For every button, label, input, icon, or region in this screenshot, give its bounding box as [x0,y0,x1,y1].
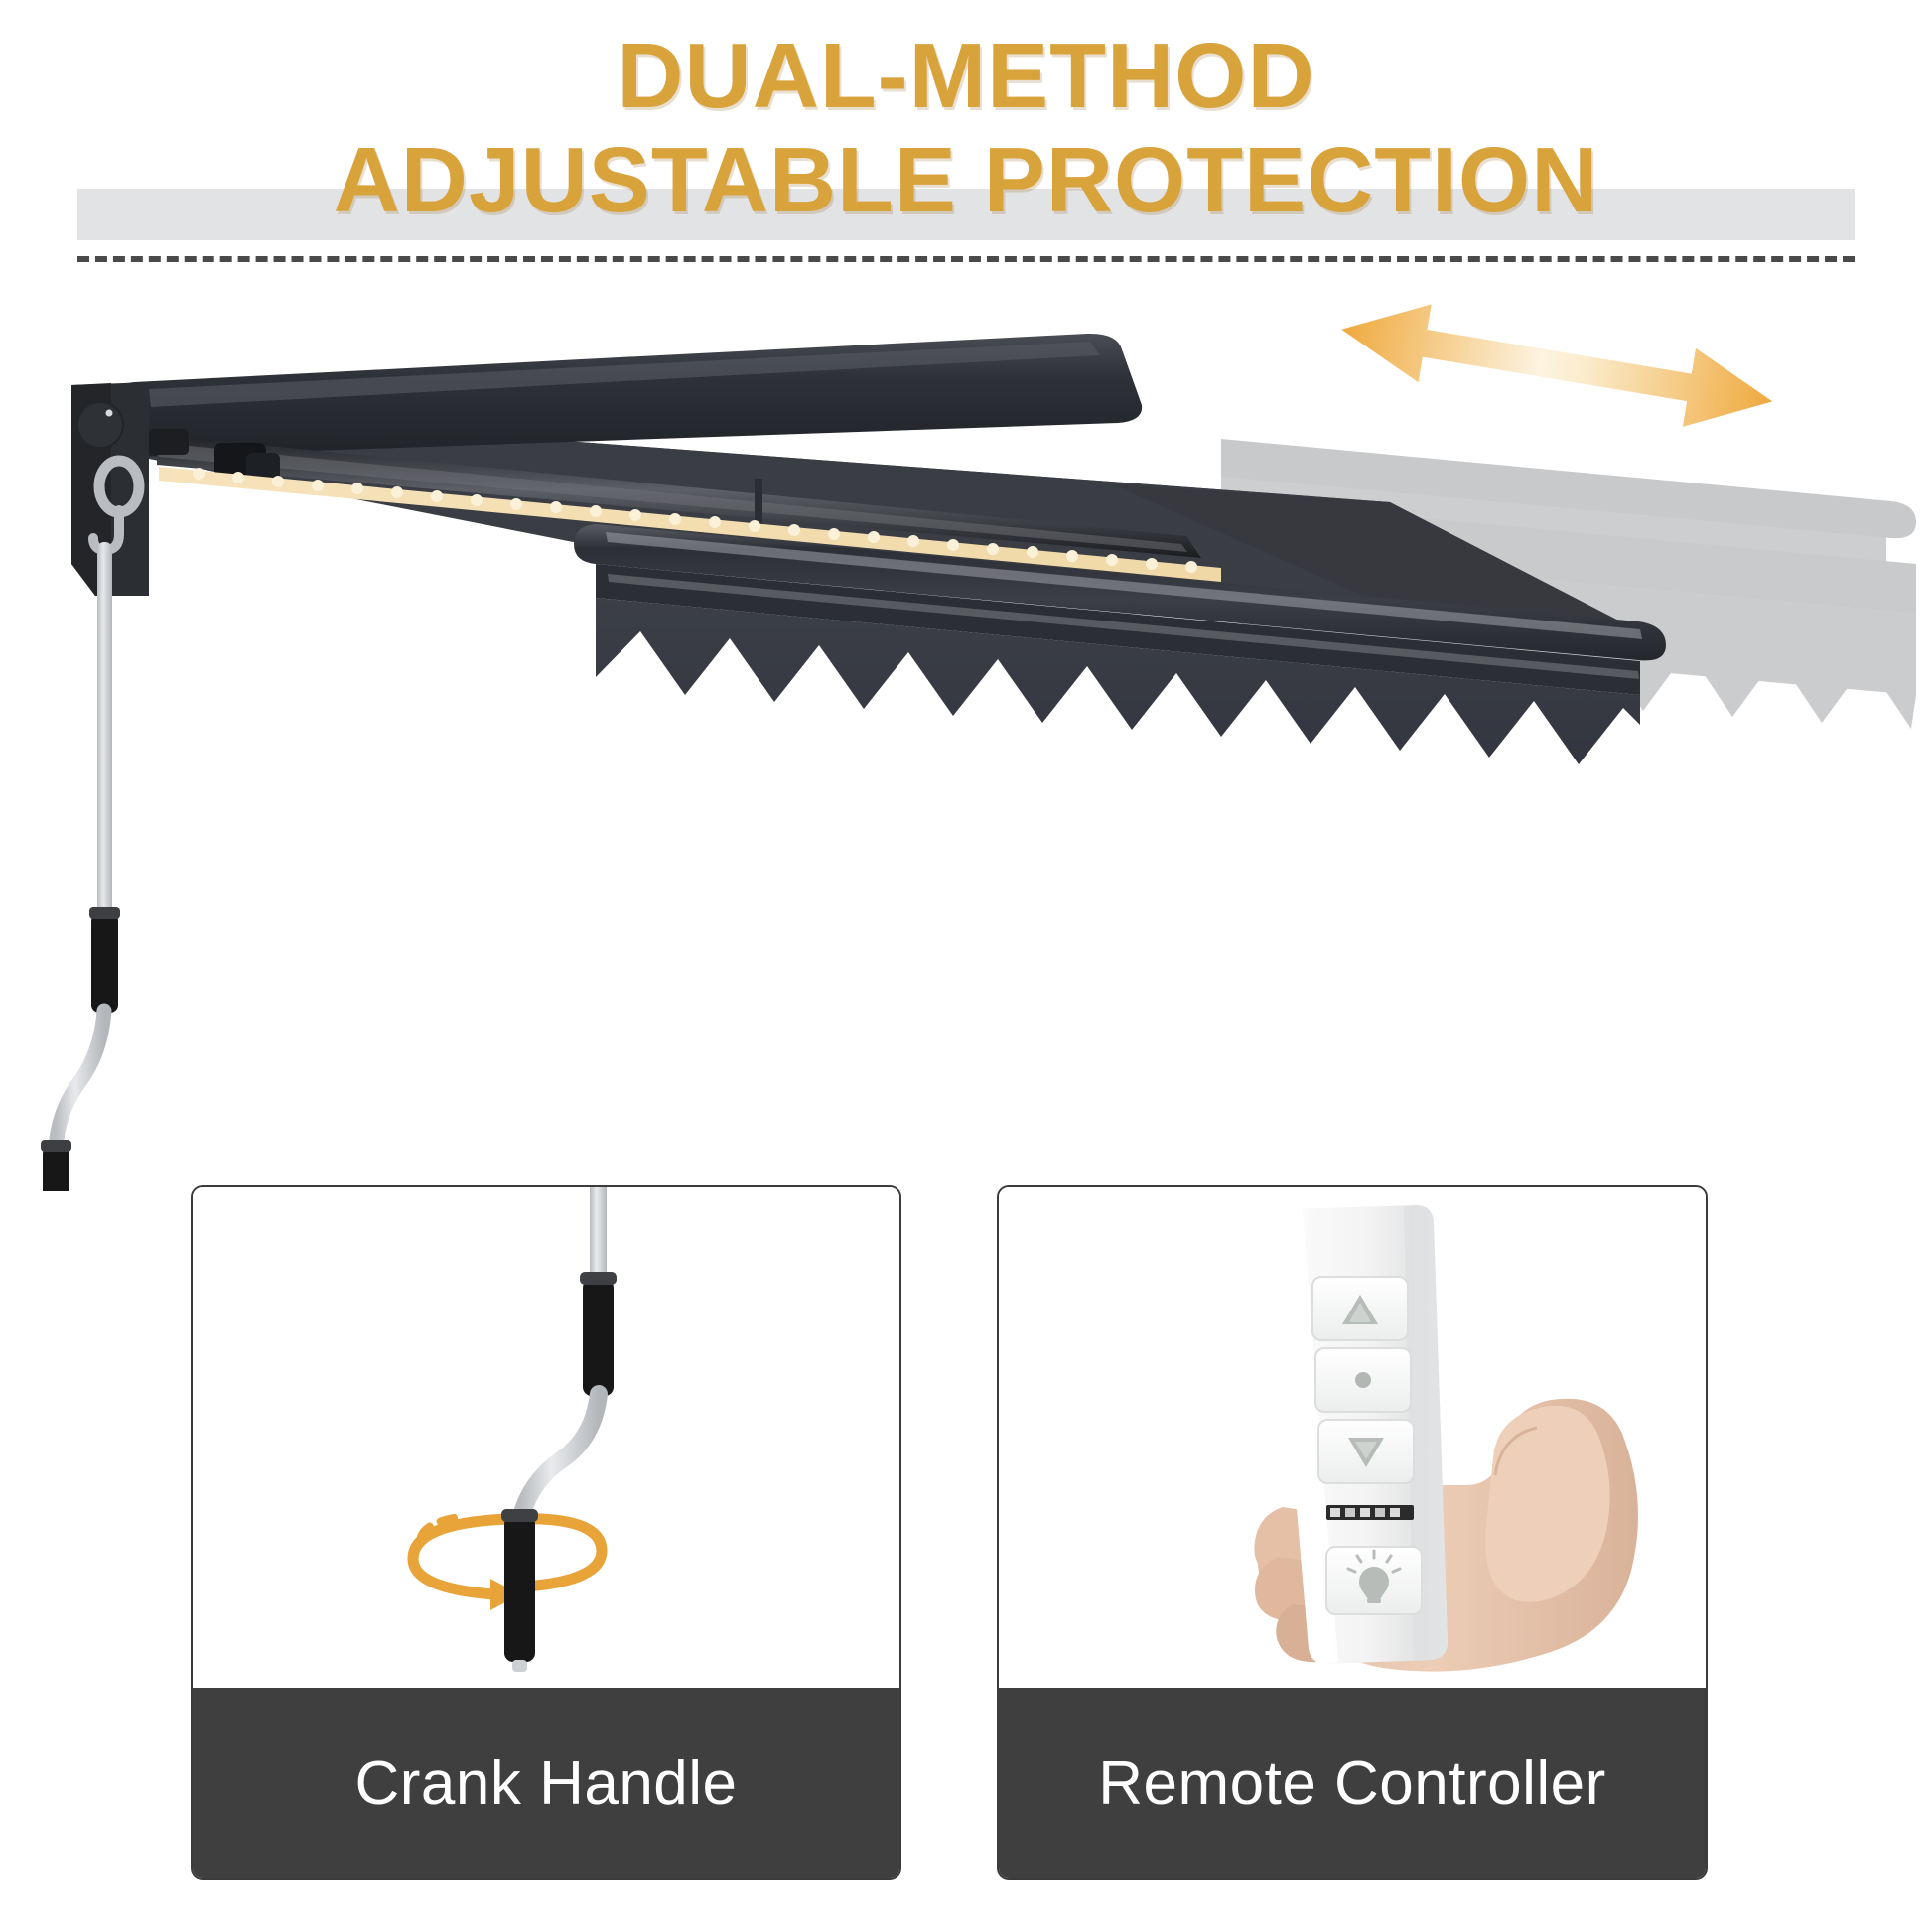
remote-controller-label: Remote Controller [1098,1748,1606,1819]
crank-handle-footer: Crank Handle [193,1688,899,1878]
remote-buttons [1312,1277,1422,1614]
remote-controller-footer: Remote Controller [999,1688,1706,1878]
light-button [1326,1547,1422,1614]
title-divider [77,256,1855,262]
down-button [1318,1420,1414,1483]
crank-handle-icon [193,1187,899,1690]
title-band [77,189,1855,240]
remote-controller-icon [999,1187,1706,1690]
up-button [1312,1277,1408,1340]
awning-roller-tube [111,334,1142,457]
feature-card-crank-handle[interactable]: Crank Handle [191,1185,901,1880]
crank-handle-label: Crank Handle [354,1748,737,1819]
stop-button [1315,1348,1411,1412]
awning-hero-illustration [0,298,1932,1191]
extend-retract-arrow [1335,298,1779,441]
led-strip [1326,1505,1414,1520]
feature-card-remote-controller[interactable]: Remote Controller [997,1185,1708,1880]
poster-canvas: DUAL-METHOD ADJUSTABLE PROTECTION [0,0,1932,1932]
title-line-1: DUAL-METHOD [0,30,1932,122]
